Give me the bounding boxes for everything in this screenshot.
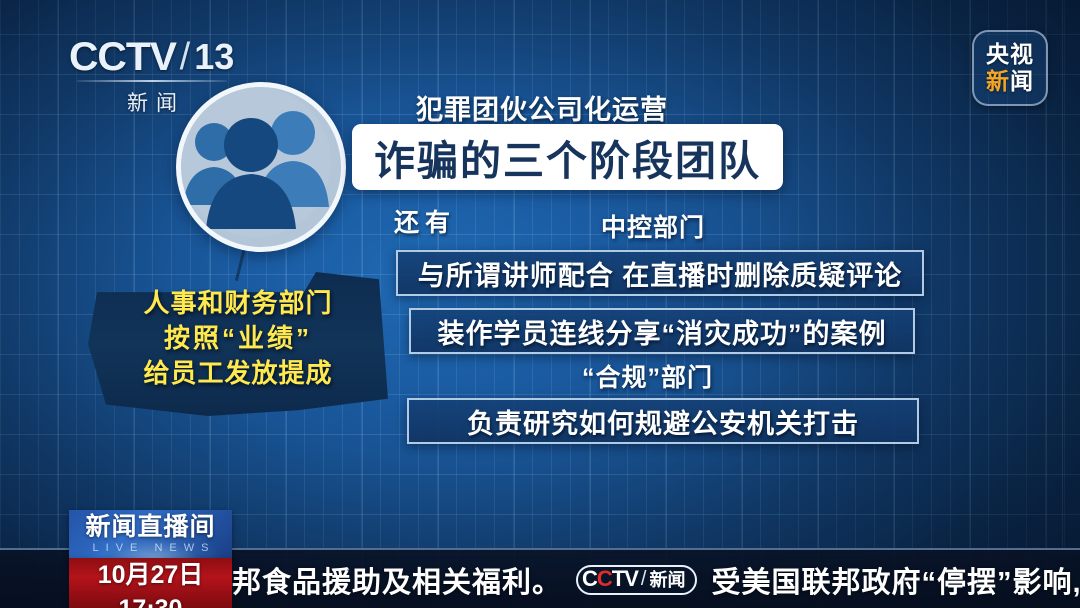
section-heading-control-dept: 中控部门 xyxy=(601,208,705,244)
headline-title-box: 诈骗的三个阶段团队 xyxy=(352,124,783,190)
info-box-control-2-text: 装作学员连线分享“消灾成功”的案例 xyxy=(438,312,887,351)
people-group-icon xyxy=(176,82,346,252)
info-box-control-1: 与所谓讲师配合 在直播时删除质疑评论 xyxy=(396,250,924,296)
callout-line-3: 给员工发放提成 xyxy=(88,356,388,391)
ticker-cctv-badge-sub: 新闻 xyxy=(649,566,685,592)
info-box-compliance-1-text: 负责研究如何规避公安机关打击 xyxy=(467,402,859,441)
cctv-news-badge: 央视 新 闻 xyxy=(972,30,1048,106)
callout-line-2: 按照“业绩” xyxy=(88,321,388,356)
program-bug-time-bar: 10月27日17:30 xyxy=(69,558,232,608)
program-bug-name: 新闻直播间 xyxy=(69,510,232,542)
info-box-control-2: 装作学员连线分享“消灾成功”的案例 xyxy=(409,308,915,354)
ticker-cctv-badge: CCTV / 新闻 xyxy=(576,565,697,595)
headline-title: 诈骗的三个阶段团队 xyxy=(374,127,761,187)
connector-label: 还有 xyxy=(394,203,456,239)
ticker-segment-1: 邦食品援助及相关福利。 xyxy=(232,559,562,601)
ticker-cctv-badge-slash: / xyxy=(641,568,647,591)
news-ticker-content: 邦食品援助及相关福利。 CCTV / 新闻 受美国联邦政府“停摆”影响, xyxy=(232,550,1080,608)
ticker-cctv-badge-logo: CCTV xyxy=(582,568,638,590)
ticker-segment-2: 受美国联邦政府“停摆”影响, xyxy=(711,559,1080,601)
section-heading-compliance-dept: “合规”部门 xyxy=(582,358,713,394)
channel-logo-number: 13 xyxy=(194,39,234,75)
info-box-control-1-text: 与所谓讲师配合 在直播时删除质疑评论 xyxy=(418,254,903,293)
info-box-compliance-1: 负责研究如何规避公安机关打击 xyxy=(407,398,919,444)
program-bug-datetime: 10月27日17:30 xyxy=(69,558,232,608)
cctv-news-badge-text-orange: 新 xyxy=(986,68,1010,95)
callout-text: 人事和财务部门 按照“业绩” 给员工发放提成 xyxy=(88,286,388,391)
channel-logo-slash: / xyxy=(180,38,191,76)
channel-logo-underline xyxy=(77,80,227,82)
program-bug: 新闻直播间 LIVE NEWS xyxy=(69,510,232,558)
cctv-news-badge-text-top: 央视 xyxy=(986,41,1034,68)
broadcast-screen: CCTV / 13 新闻 央视 新 闻 xyxy=(0,0,1080,608)
cctv-news-badge-line2: 新 闻 xyxy=(986,68,1034,95)
callout-line-1: 人事和财务部门 xyxy=(88,286,388,321)
headline-kicker: 犯罪团伙公司化运营 xyxy=(416,88,668,127)
cctv-news-badge-text-white: 闻 xyxy=(1010,68,1034,95)
channel-logo-cctv: CCTV xyxy=(69,37,176,77)
people-group-svg xyxy=(181,87,331,237)
program-bug-english: LIVE NEWS xyxy=(69,542,232,555)
channel-logo-row: CCTV / 13 xyxy=(62,36,242,78)
cctv-news-badge-line1: 央视 xyxy=(986,41,1034,68)
